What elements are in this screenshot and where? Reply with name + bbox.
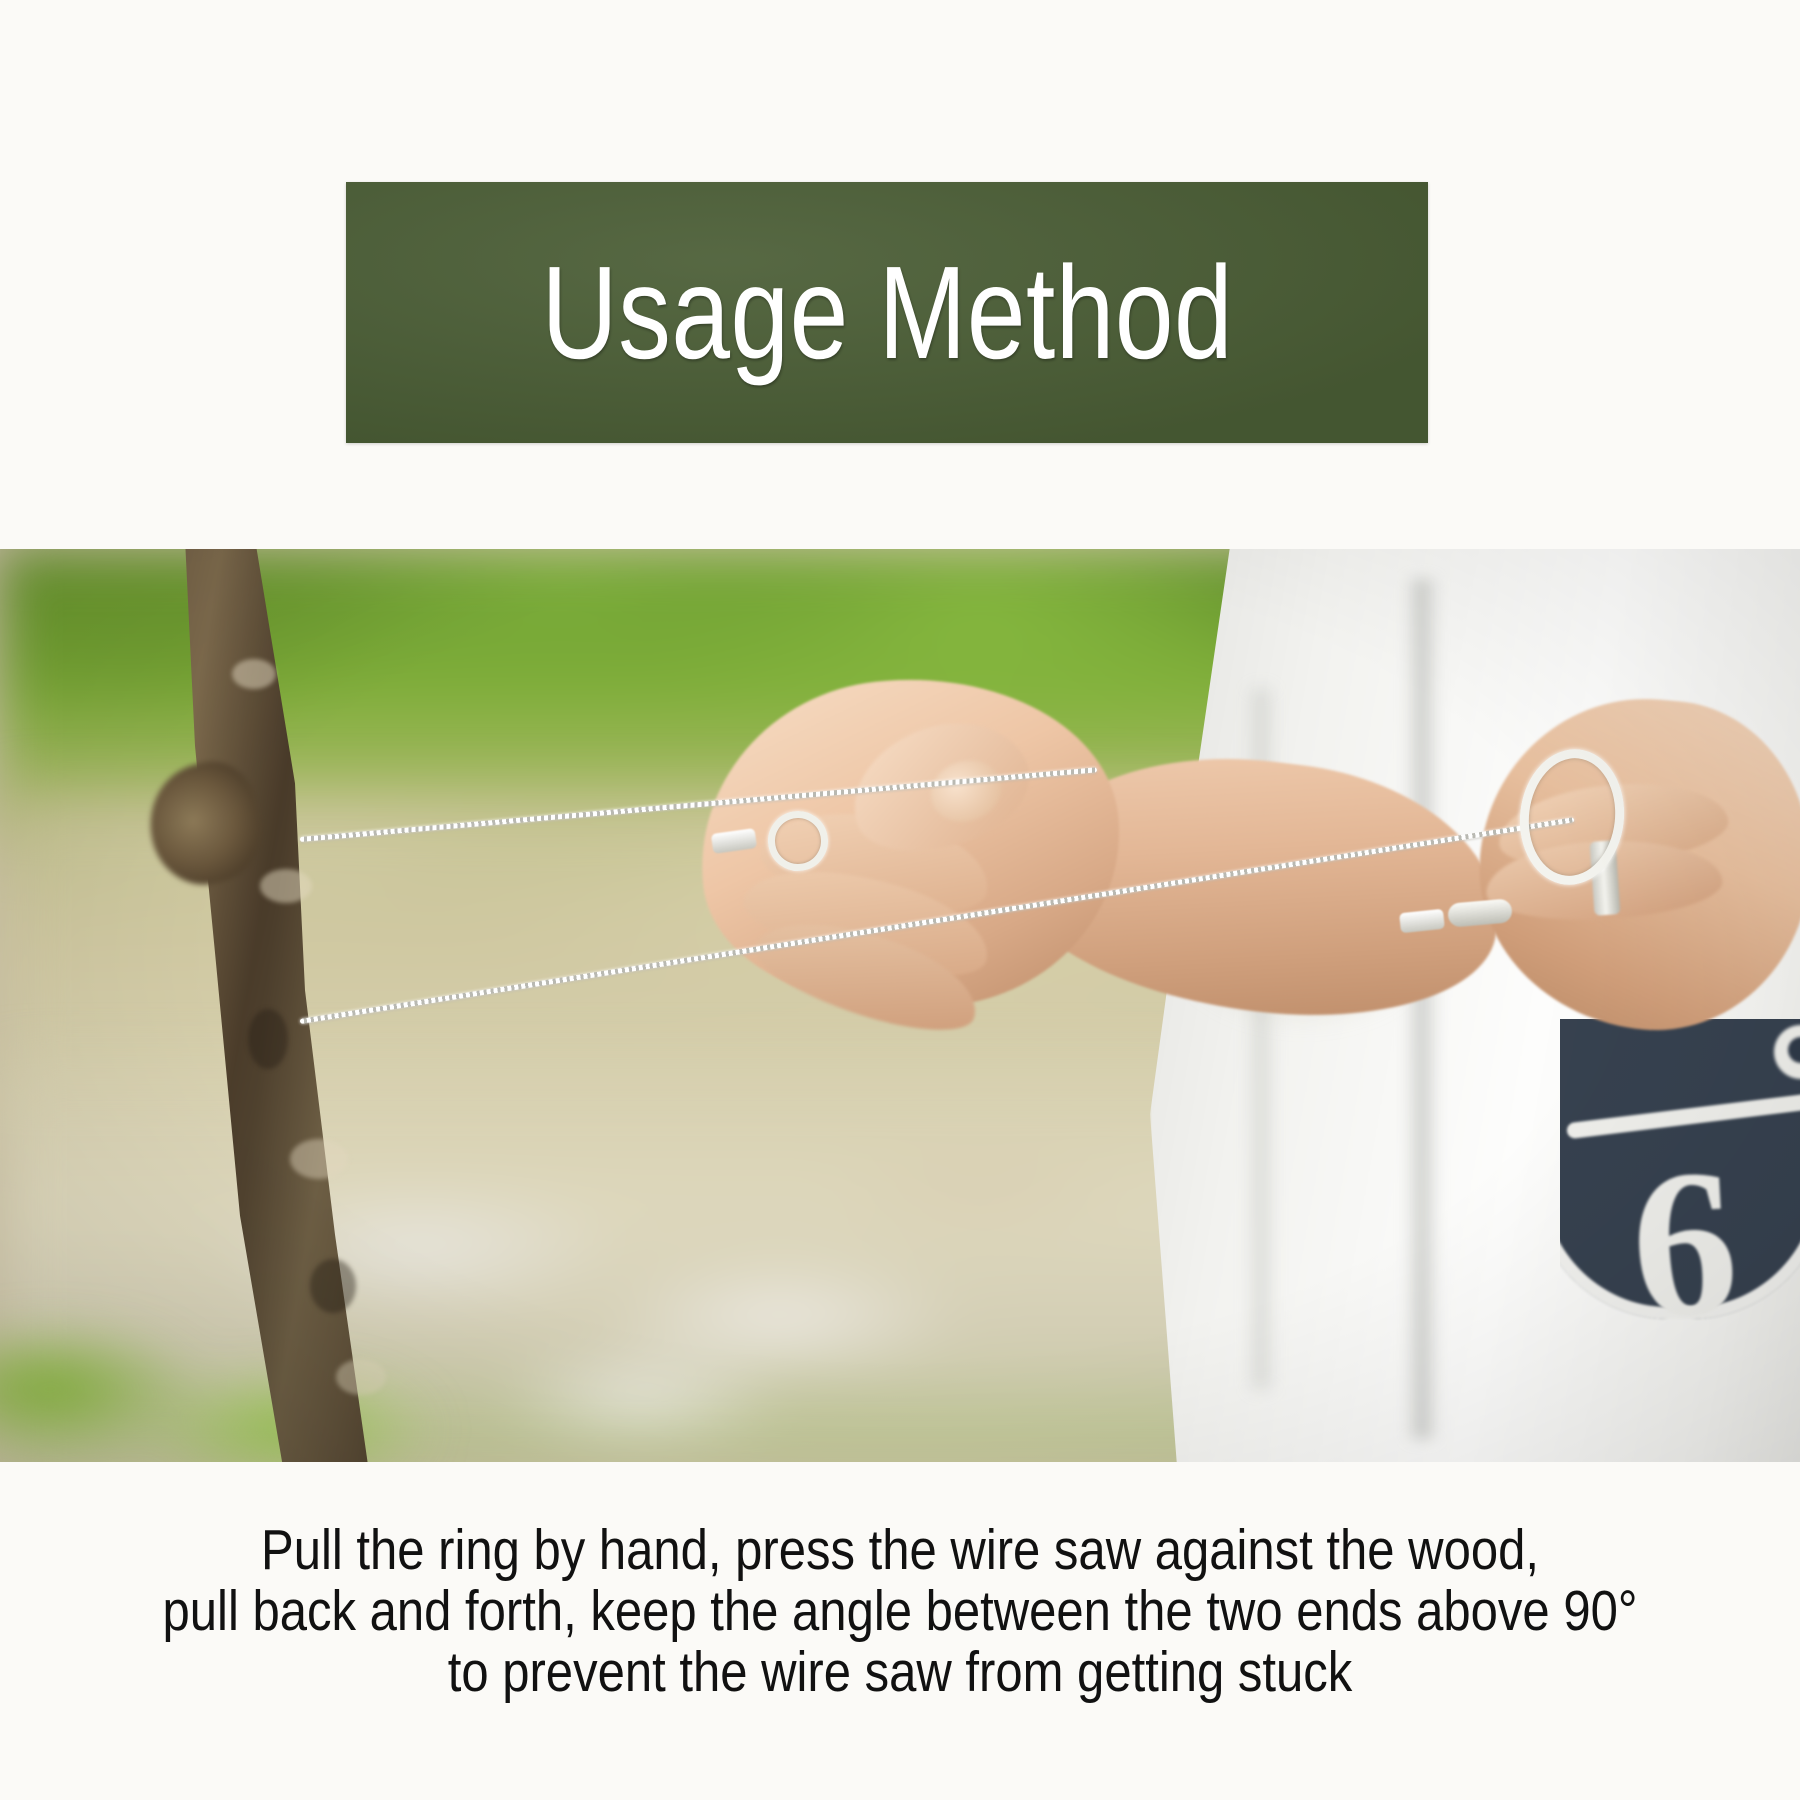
page-title: Usage Method — [541, 247, 1233, 379]
bark-speckle — [310, 1259, 356, 1313]
tree-trunk — [140, 549, 390, 1462]
bark-speckle — [260, 869, 312, 903]
caption-line-2: pull back and forth, keep the angle betw… — [126, 1581, 1674, 1642]
bark-speckle — [232, 659, 276, 689]
bark-speckle — [336, 1359, 386, 1395]
caption-line-1: Pull the ring by hand, press the wire sa… — [126, 1520, 1674, 1581]
caption-line-3: to prevent the wire saw from getting stu… — [126, 1642, 1674, 1703]
bark-speckle — [290, 1139, 348, 1179]
tshirt-route66-print: 6 — [1560, 1019, 1800, 1339]
bark-speckle — [248, 1009, 288, 1069]
title-banner: Usage Method — [346, 182, 1428, 443]
tshirt-fold — [1405, 579, 1439, 1439]
route66-print-number: 6 — [1627, 1136, 1743, 1339]
infographic-page: Usage Method 6 — [0, 0, 1800, 1800]
usage-caption: Pull the ring by hand, press the wire sa… — [0, 1520, 1800, 1703]
usage-photo: 6 — [0, 549, 1800, 1462]
